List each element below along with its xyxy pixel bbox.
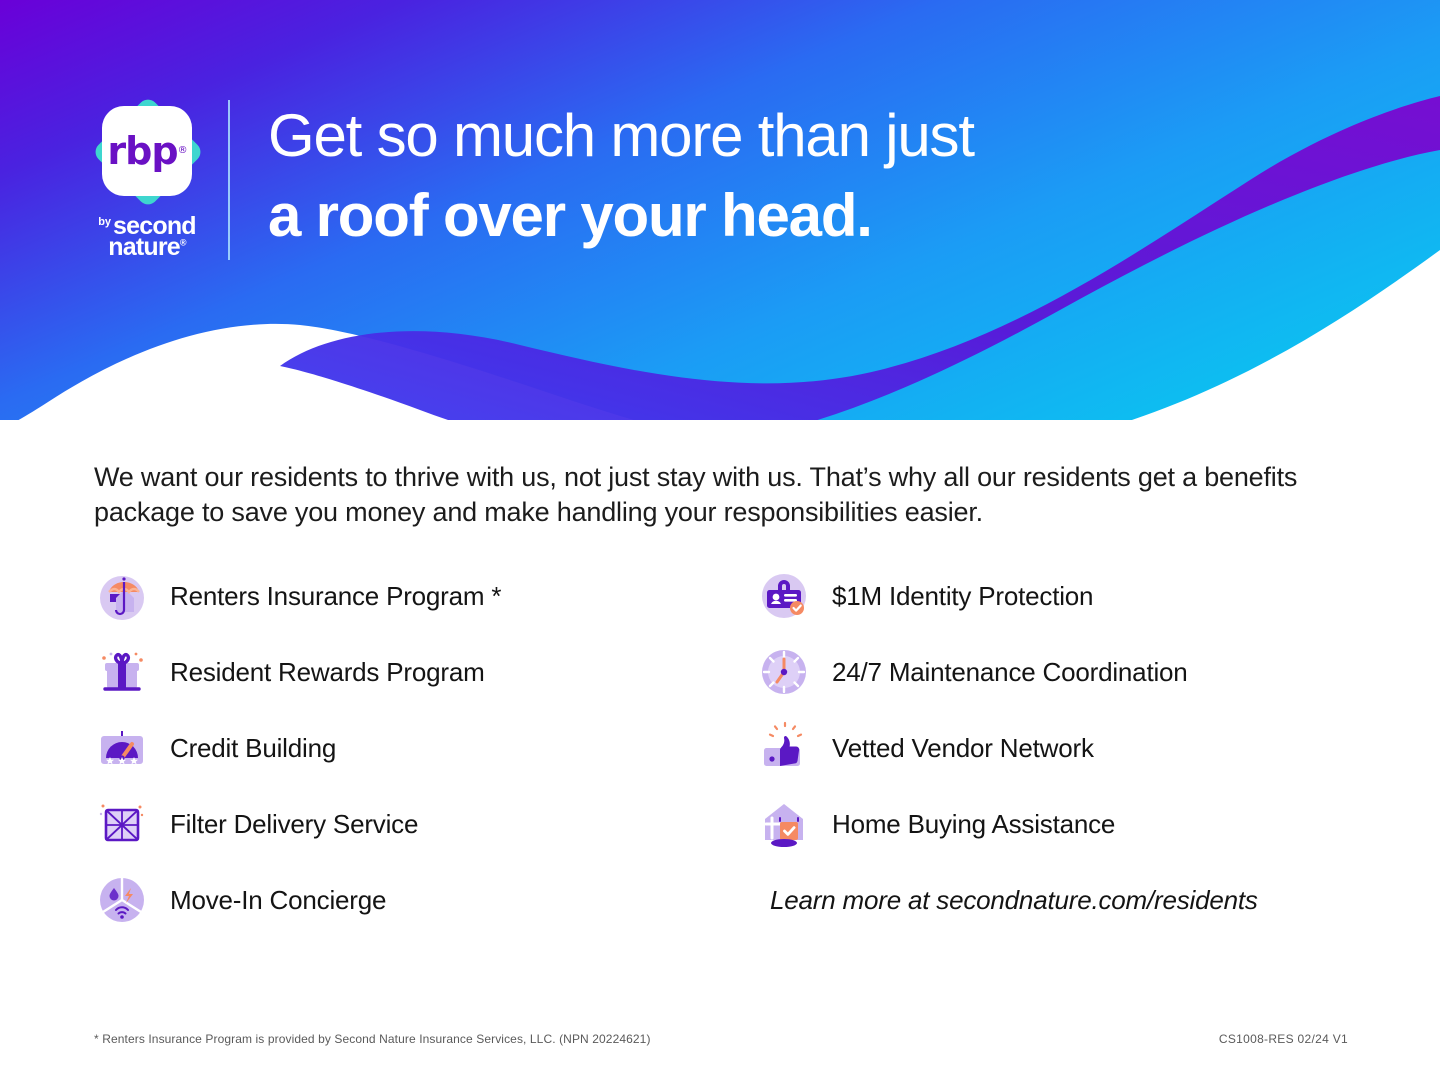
benefit-label: Credit Building bbox=[170, 733, 336, 764]
benefit-label: 24/7 Maintenance Coordination bbox=[832, 657, 1188, 688]
headline-line-1: Get so much more than just bbox=[268, 106, 1268, 166]
benefit-label: Move-In Concierge bbox=[170, 885, 386, 916]
logo-rbp-label: rbp bbox=[107, 129, 177, 173]
benefit-item-resident-rewards: Resident Rewards Program bbox=[94, 634, 714, 710]
headline-line-2: a roof over your head. bbox=[268, 186, 1268, 246]
intro-paragraph: We want our residents to thrive with us,… bbox=[94, 460, 1324, 529]
benefit-item-renters-insurance: Renters Insurance Program * bbox=[94, 558, 714, 634]
benefit-item-credit-building: Credit Building bbox=[94, 710, 714, 786]
learn-more-text[interactable]: Learn more at secondnature.com/residents bbox=[770, 885, 1258, 916]
benefit-item-vetted-vendor-network: Vetted Vendor Network bbox=[756, 710, 1356, 786]
utilities-circle-icon bbox=[94, 872, 150, 928]
id-badge-check-icon bbox=[756, 568, 812, 624]
header-banner: rbp® bysecond nature® Get so much more t… bbox=[0, 0, 1440, 420]
clock-icon bbox=[756, 644, 812, 700]
rbp-logo: rbp® bysecond nature® bbox=[84, 96, 210, 266]
header-divider bbox=[228, 100, 230, 260]
benefits-section: Renters Insurance Program * Resident Rew… bbox=[94, 558, 1354, 938]
logo-nature-registered-icon: ® bbox=[180, 238, 186, 248]
rbp-logo-mark: rbp® bbox=[92, 96, 202, 208]
benefit-label: Renters Insurance Program * bbox=[170, 581, 501, 612]
benefit-label: Home Buying Assistance bbox=[832, 809, 1115, 840]
learn-more-line[interactable]: Learn more at secondnature.com/residents bbox=[756, 862, 1356, 938]
benefits-right-column: $1M Identity Protection bbox=[756, 558, 1356, 938]
benefits-left-column: Renters Insurance Program * Resident Rew… bbox=[94, 558, 714, 938]
logo-by-label: by bbox=[98, 217, 111, 228]
logo-byline: bysecond nature® bbox=[84, 214, 210, 260]
logo-nature-text: nature bbox=[108, 233, 180, 261]
gift-icon bbox=[94, 644, 150, 700]
benefit-label: Resident Rewards Program bbox=[170, 657, 485, 688]
credit-gauge-icon bbox=[94, 720, 150, 776]
thumbs-up-icon bbox=[756, 720, 812, 776]
benefit-item-maintenance-coordination: 24/7 Maintenance Coordination bbox=[756, 634, 1356, 710]
logo-registered-icon: ® bbox=[178, 145, 187, 156]
benefit-item-move-in-concierge: Move-In Concierge bbox=[94, 862, 714, 938]
footer-doc-code: CS1008-RES 02/24 V1 bbox=[1219, 1032, 1348, 1046]
footer-disclaimer: * Renters Insurance Program is provided … bbox=[94, 1032, 651, 1046]
benefit-item-home-buying-assistance: Home Buying Assistance bbox=[756, 786, 1356, 862]
benefit-item-identity-protection: $1M Identity Protection bbox=[756, 558, 1356, 634]
house-check-icon bbox=[756, 796, 812, 852]
umbrella-house-icon bbox=[94, 568, 150, 624]
benefit-label: Vetted Vendor Network bbox=[832, 733, 1094, 764]
benefit-item-filter-delivery: Filter Delivery Service bbox=[94, 786, 714, 862]
benefit-label: Filter Delivery Service bbox=[170, 809, 418, 840]
benefit-label: $1M Identity Protection bbox=[832, 581, 1093, 612]
headline: Get so much more than just a roof over y… bbox=[268, 106, 1268, 246]
air-filter-icon bbox=[94, 796, 150, 852]
logo-rbp-text: rbp® bbox=[92, 96, 202, 208]
